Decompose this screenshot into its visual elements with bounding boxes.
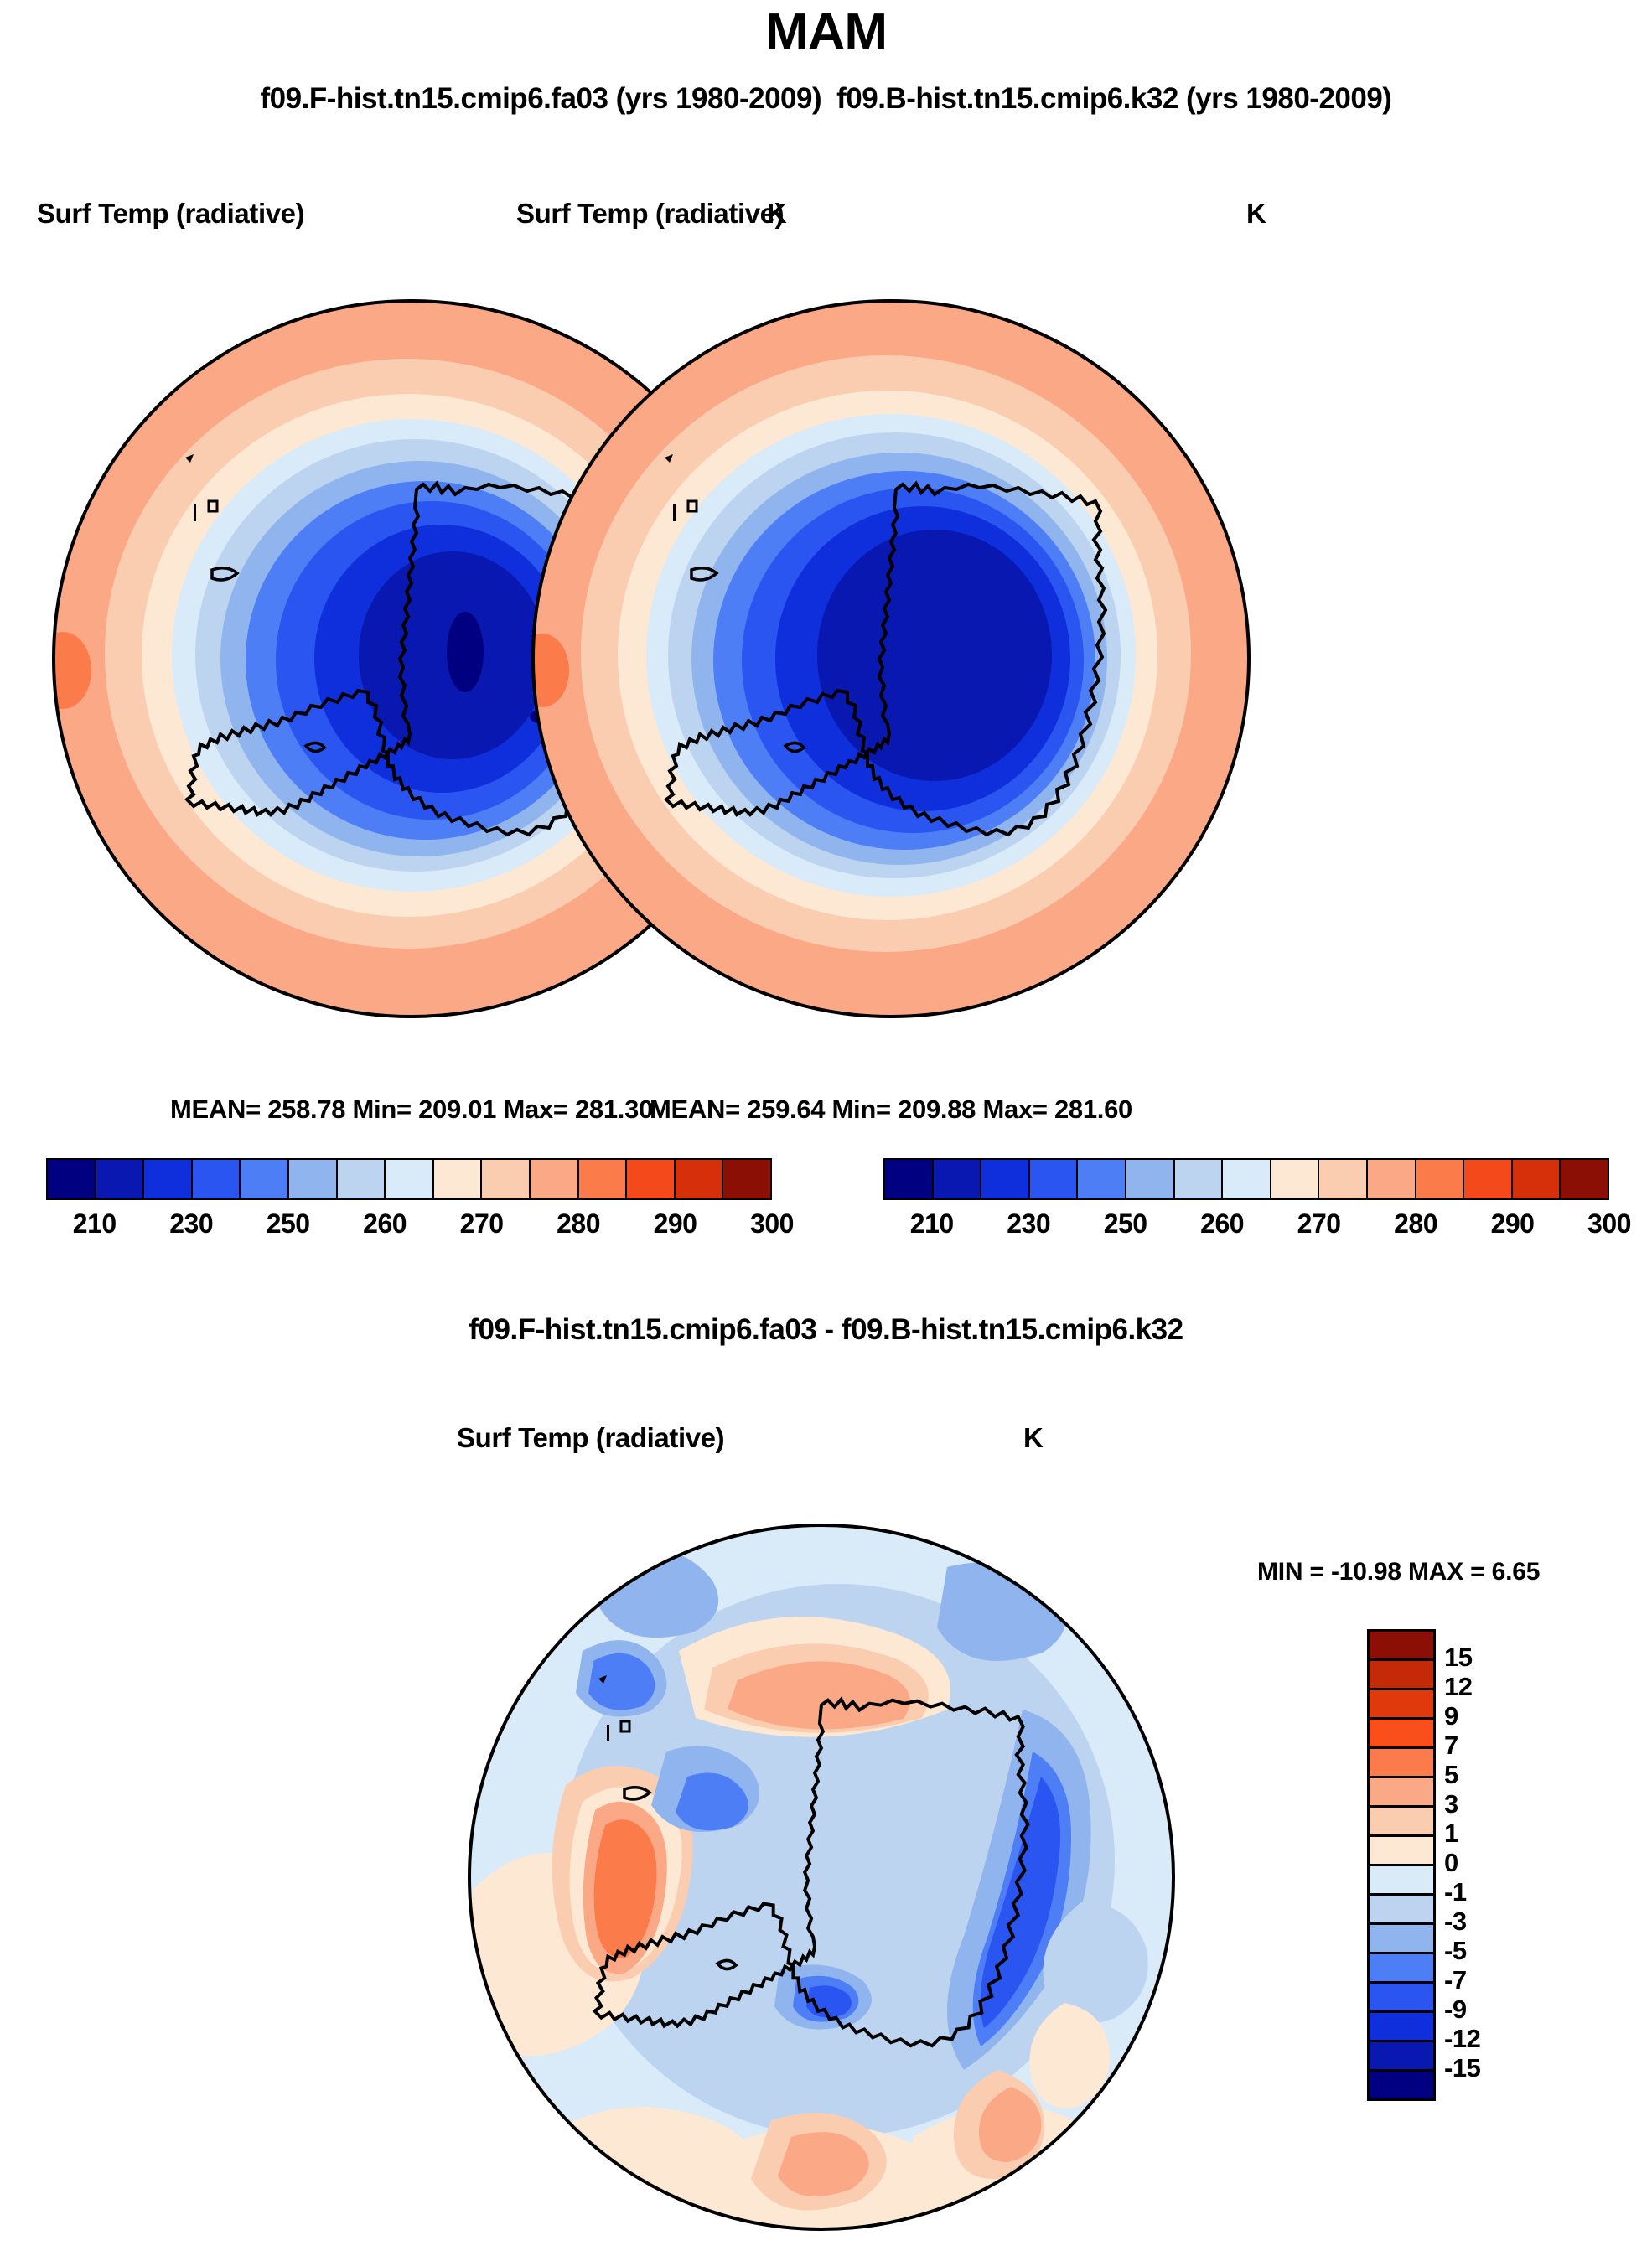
colorbar-cell <box>1370 1954 1433 1984</box>
right-panel-variable-label: Surf Temp (radiative) <box>516 198 784 230</box>
left-panel-variable-label: Surf Temp (radiative) <box>37 198 304 230</box>
colorbar-cell <box>96 1160 145 1198</box>
colorbar-cell <box>1370 1984 1433 2013</box>
colorbar-tick-label: -12 <box>1444 2024 1480 2054</box>
colorbar-tick-label: 9 <box>1444 1701 1458 1731</box>
colorbar-cell <box>1370 1896 1433 1925</box>
colorbar-tick-label: 270 <box>1297 1208 1341 1239</box>
colorbar-cell <box>289 1160 338 1198</box>
colorbar-cell <box>1370 1925 1433 1954</box>
colorbar-cell <box>1126 1160 1175 1198</box>
map-plot-difference[interactable] <box>444 1500 1199 2254</box>
colorbar-tick-label: 280 <box>557 1208 600 1239</box>
colorbar-cell <box>193 1160 241 1198</box>
colorbar-cell <box>934 1160 982 1198</box>
colorbar-tick-label: 210 <box>73 1208 117 1239</box>
colorbar-right-swatches[interactable] <box>883 1158 1609 1200</box>
right-panel-stats: MEAN= 259.64 Min= 209.88 Max= 281.60 <box>509 1094 1273 1125</box>
case-titles-row: f09.F-hist.tn15.cmip6.fa03 (yrs 1980-200… <box>0 82 1652 116</box>
colorbar-cell <box>1370 2042 1433 2072</box>
map-plot-right[interactable] <box>509 277 1273 1041</box>
colorbar-cell <box>1370 1778 1433 1808</box>
diff-panel-variable-label: Surf Temp (radiative) <box>457 1422 724 1454</box>
colorbar-cell <box>1175 1160 1224 1198</box>
colorbar-tick-label: 1 <box>1444 1819 1458 1849</box>
colorbar-cell <box>1370 1632 1433 1661</box>
colorbar-cell <box>981 1160 1030 1198</box>
colorbar-cell <box>676 1160 724 1198</box>
colorbar-tick-label: 280 <box>1394 1208 1437 1239</box>
colorbar-tick-label: 260 <box>1200 1208 1244 1239</box>
colorbar-tick-label: 300 <box>750 1208 794 1239</box>
colorbar-tick-label: 3 <box>1444 1789 1458 1819</box>
colorbar-tick-label: 250 <box>267 1208 310 1239</box>
colorbar-cell <box>1370 1720 1433 1749</box>
colorbar-cell <box>1319 1160 1368 1198</box>
colorbar-cell <box>1370 1808 1433 1837</box>
colorbar-cell <box>144 1160 193 1198</box>
colorbar-tick-label: 250 <box>1104 1208 1147 1239</box>
colorbar-cell <box>1416 1160 1465 1198</box>
colorbar-tick-label: -1 <box>1444 1877 1467 1907</box>
difference-minmax: MIN = -10.98 MAX = 6.65 <box>1257 1558 1540 1586</box>
colorbar-tick-label: 12 <box>1444 1672 1472 1702</box>
colorbar-cell <box>48 1160 96 1198</box>
colorbar-cell <box>627 1160 676 1198</box>
colorbar-tick-label: -9 <box>1444 1995 1467 2025</box>
colorbar-tick-label: -3 <box>1444 1907 1467 1937</box>
colorbar-difference-labels: 1512975310-1-3-5-7-9-12-15 <box>1444 1629 1545 2096</box>
map-svg-right <box>509 277 1273 1041</box>
colorbar-cell <box>386 1160 434 1198</box>
colorbar-tick-label: -7 <box>1444 1965 1467 1995</box>
contour-field-difference <box>453 1525 1173 2254</box>
colorbar-tick-label: 290 <box>1491 1208 1535 1239</box>
colorbar-cell <box>241 1160 289 1198</box>
colorbar-cell <box>1078 1160 1126 1198</box>
right-panel-units-label: K <box>1246 198 1266 230</box>
colorbar-tick-label: 270 <box>460 1208 504 1239</box>
contour-field-right <box>515 301 1249 1017</box>
colorbar-tick-label: 210 <box>910 1208 954 1239</box>
colorbar-cell <box>885 1160 934 1198</box>
colorbar-cell <box>531 1160 579 1198</box>
case-title-right: f09.B-hist.tn15.cmip6.k32 (yrs 1980-2009… <box>829 82 1399 116</box>
colorbar-tick-label: -15 <box>1444 2053 1480 2083</box>
page-title: MAM <box>0 7 1652 59</box>
colorbar-cell <box>1513 1160 1561 1198</box>
colorbar-tick-label: 5 <box>1444 1760 1458 1790</box>
colorbar-cell <box>1223 1160 1271 1198</box>
colorbar-cell <box>1030 1160 1079 1198</box>
colorbar-cell <box>338 1160 386 1198</box>
colorbar-cell <box>1370 1661 1433 1690</box>
colorbar-tick-label: 290 <box>654 1208 697 1239</box>
colorbar-difference[interactable]: 1512975310-1-3-5-7-9-12-15 <box>1367 1629 1436 2101</box>
colorbar-cell <box>1271 1160 1320 1198</box>
colorbar-cell <box>434 1160 483 1198</box>
diff-panel-units-label: K <box>1023 1422 1044 1454</box>
difference-title: f09.F-hist.tn15.cmip6.fa03 - f09.B-hist.… <box>0 1313 1652 1347</box>
map-svg-difference <box>444 1500 1199 2254</box>
colorbar-cell <box>1370 1749 1433 1778</box>
case-title-left: f09.F-hist.tn15.cmip6.fa03 (yrs 1980-200… <box>253 82 830 116</box>
colorbar-left-swatches[interactable] <box>46 1158 772 1200</box>
colorbar-tick-label: 230 <box>169 1208 213 1239</box>
colorbar-right-labels: 210230250260270280290300 <box>883 1208 1609 1245</box>
colorbar-left-labels: 210230250260270280290300 <box>46 1208 772 1245</box>
colorbar-tick-label: -5 <box>1444 1936 1467 1966</box>
colorbar-difference-swatches[interactable] <box>1367 1629 1436 2101</box>
colorbar-cell <box>1561 1160 1608 1198</box>
colorbar-cell <box>482 1160 531 1198</box>
colorbar-cell <box>723 1160 770 1198</box>
colorbar-cell <box>579 1160 628 1198</box>
colorbar-left[interactable]: 210230250260270280290300 <box>46 1158 772 1245</box>
colorbar-right[interactable]: 210230250260270280290300 <box>883 1158 1609 1245</box>
colorbar-cell <box>1370 1866 1433 1896</box>
colorbar-tick-label: 0 <box>1444 1848 1458 1878</box>
colorbar-cell <box>1370 1837 1433 1866</box>
colorbar-cell <box>1370 1690 1433 1720</box>
colorbar-tick-label: 15 <box>1444 1643 1472 1673</box>
colorbar-cell <box>1370 2072 1433 2098</box>
colorbar-tick-label: 260 <box>363 1208 407 1239</box>
colorbar-tick-label: 230 <box>1007 1208 1050 1239</box>
colorbar-cell <box>1368 1160 1416 1198</box>
colorbar-tick-label: 7 <box>1444 1731 1458 1761</box>
colorbar-cell <box>1464 1160 1513 1198</box>
colorbar-cell <box>1370 2013 1433 2042</box>
colorbar-tick-label: 300 <box>1587 1208 1631 1239</box>
